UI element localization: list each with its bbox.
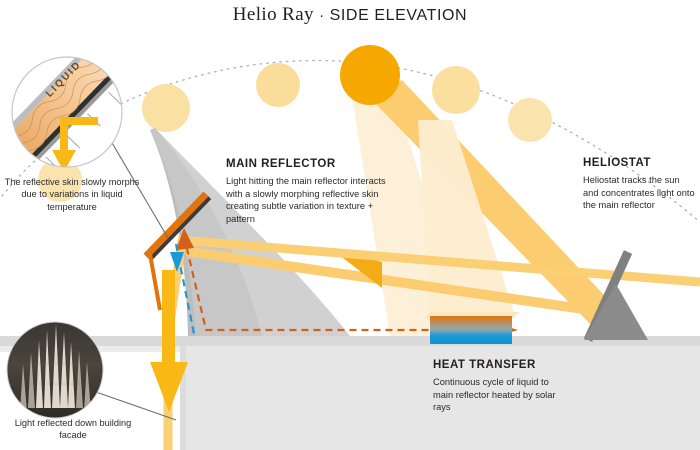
callout-caption-facade: Light reflected down building facade: [6, 417, 140, 442]
annotation-main-reflector: MAIN REFLECTOR Light hitting the main re…: [226, 158, 406, 225]
heliostat-body: Heliostat tracks the sun and concentrate…: [583, 174, 695, 212]
main-reflector-body: Light hitting the main reflector interac…: [226, 175, 391, 225]
heliostat-heading: HELIOSTAT: [583, 157, 700, 169]
building-volume-shadow: [180, 346, 186, 450]
main-reflector-heading: MAIN REFLECTOR: [226, 158, 406, 170]
sun-core: [340, 45, 400, 105]
sun-ghost: [432, 66, 480, 114]
page-title: Helio Ray · SIDE ELEVATION: [0, 4, 700, 26]
sun-ghost: [256, 63, 300, 107]
receiver-body: [430, 316, 512, 344]
inset-skin-detail: [0, 23, 156, 191]
callout-caption-skin: The reflective skin slowly morphs due to…: [2, 176, 142, 213]
title-separator: ·: [319, 7, 324, 24]
sun-ghost: [508, 98, 552, 142]
title-brand: Helio Ray: [233, 4, 314, 25]
title-subtitle: SIDE ELEVATION: [330, 7, 468, 24]
inset-facade-photo: [7, 322, 103, 418]
diagram-canvas: Helio Ray · SIDE ELEVATION MAIN REFLECTO…: [0, 0, 700, 450]
annotation-heliostat: HELIOSTAT Heliostat tracks the sun and c…: [583, 157, 700, 212]
heat-transfer-heading: HEAT TRANSFER: [433, 359, 593, 371]
receiver-block: [424, 312, 520, 344]
heat-transfer-body: Continuous cycle of liquid to main refle…: [433, 376, 558, 414]
sun-ghost: [142, 84, 190, 132]
annotation-heat-transfer: HEAT TRANSFER Continuous cycle of liquid…: [433, 359, 593, 414]
